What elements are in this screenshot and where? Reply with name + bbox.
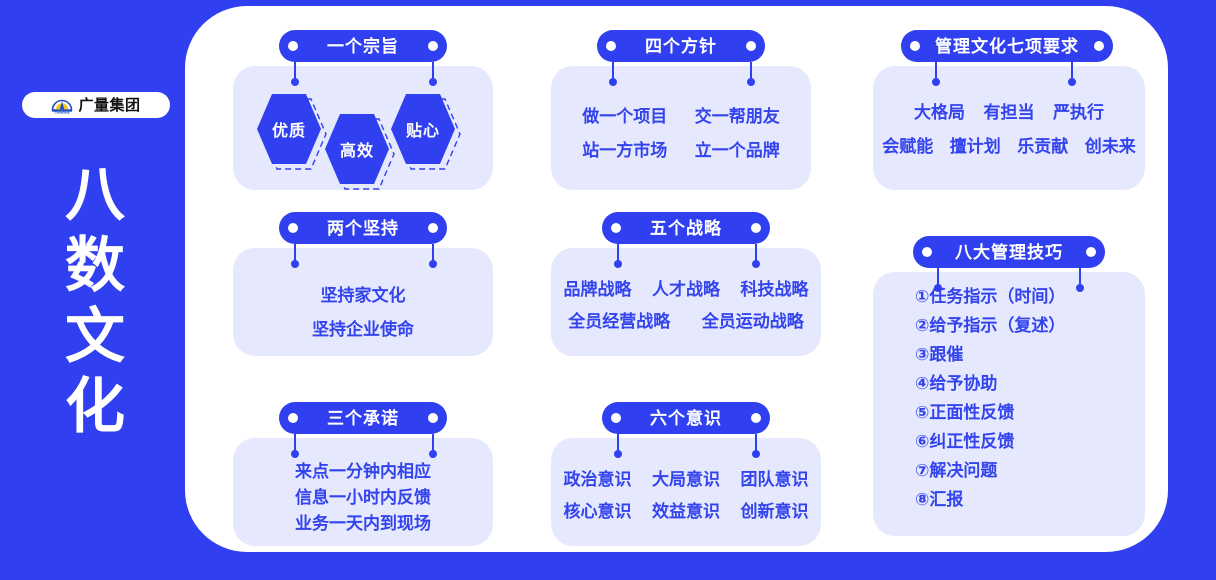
card-badge-label: 一个宗旨 bbox=[327, 38, 399, 55]
badge-dot-left-icon bbox=[910, 41, 920, 51]
hexagon-badge[interactable]: 贴心 bbox=[389, 92, 457, 166]
brand-logo-pill: Guangliang 广量集团 bbox=[22, 92, 170, 118]
body-segment: 立一个品牌 bbox=[695, 134, 780, 168]
body-segment: 效益意识 bbox=[652, 496, 720, 528]
page-title-char: 文 bbox=[0, 302, 190, 373]
hexagon-badge[interactable]: 高效 bbox=[323, 112, 391, 186]
card-numbered-list: ①任务指示（时间） ②给予指示（复述） ③跟催 ④给予协助 ⑤正面性反馈 ⑥纠正… bbox=[915, 282, 1065, 514]
badge-dot-right-icon bbox=[746, 41, 756, 51]
card-badge[interactable]: 五个战略 bbox=[602, 212, 770, 244]
body-segment: 全员经营战略 bbox=[568, 306, 670, 338]
page-title-char: 八 bbox=[0, 160, 190, 231]
body-segment: 创未来 bbox=[1085, 130, 1136, 164]
body-line: 大格局 有担当 严执行 bbox=[873, 96, 1145, 130]
card-badge[interactable]: 两个坚持 bbox=[279, 212, 447, 244]
card-eight-skills[interactable]: 八大管理技巧 ①任务指示（时间） ②给予指示（复述） ③跟催 ④给予协助 ⑤正面… bbox=[873, 236, 1145, 536]
badge-dot-right-icon bbox=[428, 223, 438, 233]
badge-dot-right-icon bbox=[1094, 41, 1104, 51]
badge-dot-left-icon bbox=[606, 41, 616, 51]
badge-pin-left bbox=[617, 244, 619, 264]
body-line: 业务一天内到现场 bbox=[233, 511, 493, 537]
page-title: 八 数 文 化 bbox=[0, 160, 190, 443]
body-segment: 大局意识 bbox=[652, 464, 720, 496]
body-segment: 严执行 bbox=[1053, 96, 1104, 130]
card-five-strategies[interactable]: 五个战略 品牌战略 人才战略 科技战略 全员经营战略 全员运动战略 bbox=[551, 212, 821, 372]
card-two-adherences[interactable]: 两个坚持 坚持家文化 坚持企业使命 bbox=[233, 212, 493, 372]
card-badge[interactable]: 八大管理技巧 bbox=[913, 236, 1105, 268]
body-segment: 科技战略 bbox=[740, 274, 808, 306]
card-badge-label: 两个坚持 bbox=[327, 220, 399, 237]
card-one-purpose[interactable]: 一个宗旨 优质 高效 bbox=[233, 30, 493, 190]
hexagon-badge[interactable]: 优质 bbox=[255, 92, 323, 166]
arch-dome-icon: Guangliang bbox=[51, 96, 73, 114]
body-segment: 做一个项目 bbox=[582, 100, 667, 134]
page-title-char: 化 bbox=[0, 372, 190, 443]
hexagon-label: 高效 bbox=[323, 112, 391, 186]
badge-dot-left-icon bbox=[288, 41, 298, 51]
body-segment: 站一方市场 bbox=[582, 134, 667, 168]
card-grid: 一个宗旨 优质 高效 bbox=[185, 6, 1168, 552]
card-badge[interactable]: 三个承诺 bbox=[279, 402, 447, 434]
body-segment: 有担当 bbox=[984, 96, 1035, 130]
card-badge-label: 三个承诺 bbox=[327, 410, 399, 427]
badge-dot-left-icon bbox=[611, 413, 621, 423]
badge-dot-right-icon bbox=[428, 413, 438, 423]
badge-pin-left bbox=[935, 62, 937, 82]
svg-text:Guangliang: Guangliang bbox=[55, 111, 70, 114]
badge-dot-left-icon bbox=[288, 413, 298, 423]
badge-pin-left bbox=[612, 62, 614, 82]
card-badge-label: 管理文化七项要求 bbox=[935, 38, 1079, 55]
card-body-lines: 政治意识 大局意识 团队意识 核心意识 效益意识 创新意识 bbox=[551, 464, 821, 528]
badge-dot-right-icon bbox=[751, 223, 761, 233]
body-line: 来点一分钟内相应 bbox=[233, 459, 493, 485]
badge-pin-left bbox=[937, 268, 939, 288]
body-segment: 核心意识 bbox=[564, 496, 632, 528]
badge-pin-left bbox=[294, 244, 296, 264]
body-segment: 品牌战略 bbox=[564, 274, 632, 306]
page-title-char: 数 bbox=[0, 231, 190, 302]
badge-dot-left-icon bbox=[922, 247, 932, 257]
card-six-awarenesses[interactable]: 六个意识 政治意识 大局意识 团队意识 核心意识 效益意识 创新意识 bbox=[551, 402, 821, 552]
badge-dot-left-icon bbox=[611, 223, 621, 233]
card-body-lines: 大格局 有担当 严执行 会赋能 擅计划 乐贡献 创未来 bbox=[873, 96, 1145, 164]
badge-pin-right bbox=[755, 434, 757, 454]
body-segment: 创新意识 bbox=[740, 496, 808, 528]
card-body-lines: 品牌战略 人才战略 科技战略 全员经营战略 全员运动战略 bbox=[551, 274, 821, 338]
card-badge-label: 八大管理技巧 bbox=[955, 244, 1063, 261]
badge-pin-right bbox=[1071, 62, 1073, 82]
left-rail: Guangliang 广量集团 八 数 文 化 bbox=[0, 0, 190, 580]
card-four-guidelines[interactable]: 四个方针 做一个项目 交一帮朋友 站一方市场 立一个品牌 bbox=[551, 30, 811, 190]
card-badge[interactable]: 四个方针 bbox=[597, 30, 765, 62]
body-segment: 擅计划 bbox=[950, 130, 1001, 164]
card-body-lines: 来点一分钟内相应 信息一小时内反馈 业务一天内到现场 bbox=[233, 459, 493, 537]
card-badge-label: 五个战略 bbox=[650, 220, 722, 237]
hexagon-label: 优质 bbox=[255, 92, 323, 166]
badge-pin-right bbox=[432, 434, 434, 454]
body-line: 品牌战略 人才战略 科技战略 bbox=[551, 274, 821, 306]
list-item: ④给予协助 bbox=[915, 369, 1065, 398]
card-body-lines: 坚持家文化 坚持企业使命 bbox=[233, 279, 493, 347]
body-line: 坚持家文化 bbox=[233, 279, 493, 313]
list-item: ⑧汇报 bbox=[915, 485, 1065, 514]
badge-dot-right-icon bbox=[1086, 247, 1096, 257]
body-segment: 会赋能 bbox=[882, 130, 933, 164]
body-line: 站一方市场 立一个品牌 bbox=[551, 134, 811, 168]
badge-pin-right bbox=[432, 62, 434, 82]
card-badge[interactable]: 六个意识 bbox=[602, 402, 770, 434]
body-segment: 乐贡献 bbox=[1017, 130, 1068, 164]
list-item: ⑤正面性反馈 bbox=[915, 398, 1065, 427]
card-badge[interactable]: 一个宗旨 bbox=[279, 30, 447, 62]
body-line: 坚持企业使命 bbox=[233, 313, 493, 347]
badge-dot-right-icon bbox=[428, 41, 438, 51]
hexagon-label: 贴心 bbox=[389, 92, 457, 166]
card-badge[interactable]: 管理文化七项要求 bbox=[901, 30, 1113, 62]
body-line: 做一个项目 交一帮朋友 bbox=[551, 100, 811, 134]
body-line: 会赋能 擅计划 乐贡献 创未来 bbox=[873, 130, 1145, 164]
body-segment: 大格局 bbox=[914, 96, 965, 130]
badge-pin-right bbox=[1079, 268, 1081, 288]
badge-pin-left bbox=[617, 434, 619, 454]
body-line: 政治意识 大局意识 团队意识 bbox=[551, 464, 821, 496]
card-body-lines: 做一个项目 交一帮朋友 站一方市场 立一个品牌 bbox=[551, 100, 811, 168]
list-item: ⑥纠正性反馈 bbox=[915, 427, 1065, 456]
body-line: 信息一小时内反馈 bbox=[233, 485, 493, 511]
list-item: ②给予指示（复述） bbox=[915, 311, 1065, 340]
body-segment: 政治意识 bbox=[564, 464, 632, 496]
badge-pin-right bbox=[755, 244, 757, 264]
badge-pin-right bbox=[750, 62, 752, 82]
body-segment: 人才战略 bbox=[652, 274, 720, 306]
badge-dot-right-icon bbox=[751, 413, 761, 423]
list-item: ⑦解决问题 bbox=[915, 456, 1065, 485]
body-line: 全员经营战略 全员运动战略 bbox=[551, 306, 821, 338]
badge-pin-right bbox=[432, 244, 434, 264]
card-seven-requirements[interactable]: 管理文化七项要求 大格局 有担当 严执行 会赋能 擅计划 乐贡献 创未来 bbox=[873, 30, 1145, 190]
body-segment: 团队意识 bbox=[740, 464, 808, 496]
list-item: ③跟催 bbox=[915, 340, 1065, 369]
badge-pin-left bbox=[294, 434, 296, 454]
badge-pin-left bbox=[294, 62, 296, 82]
card-badge-label: 六个意识 bbox=[650, 410, 722, 427]
brand-name: 广量集团 bbox=[78, 98, 140, 113]
card-three-promises[interactable]: 三个承诺 来点一分钟内相应 信息一小时内反馈 业务一天内到现场 bbox=[233, 402, 493, 552]
card-badge-label: 四个方针 bbox=[645, 38, 717, 55]
badge-dot-left-icon bbox=[288, 223, 298, 233]
body-segment: 交一帮朋友 bbox=[695, 100, 780, 134]
body-segment: 全员运动战略 bbox=[702, 306, 804, 338]
body-line: 核心意识 效益意识 创新意识 bbox=[551, 496, 821, 528]
